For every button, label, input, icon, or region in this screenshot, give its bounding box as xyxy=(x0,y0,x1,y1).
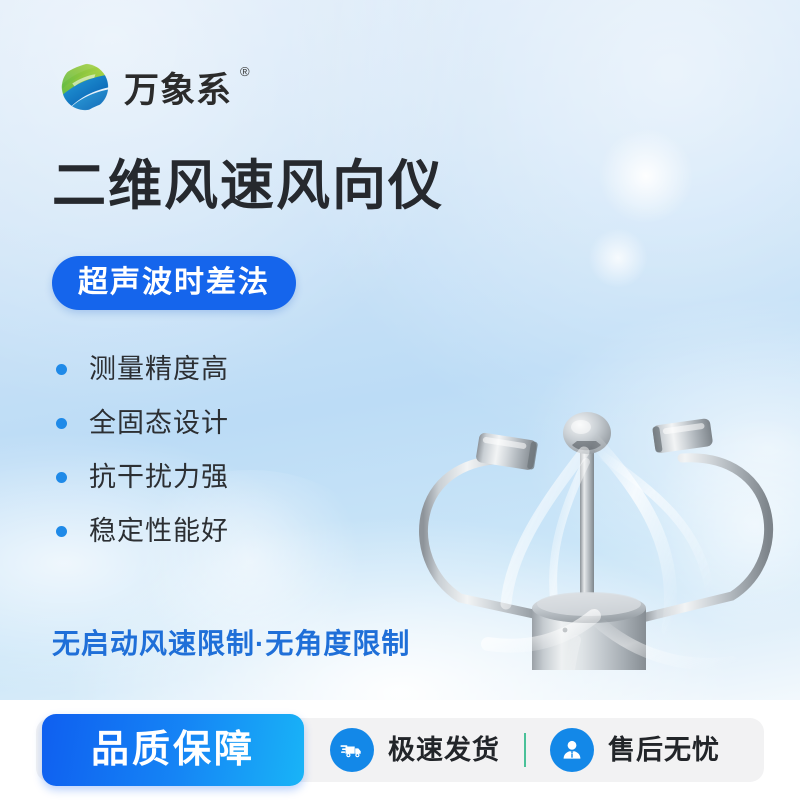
list-item: 测量精度高 xyxy=(56,356,229,383)
bullet-dot-icon xyxy=(56,472,67,483)
method-badge-label: 超声波时差法 xyxy=(78,268,270,298)
feature-label: 稳定性能好 xyxy=(89,518,229,545)
footer-divider xyxy=(524,733,526,767)
footer-item-aftersales: 售后无忧 xyxy=(550,728,720,772)
bullet-dot-icon xyxy=(56,364,67,375)
registered-mark: ® xyxy=(240,64,250,79)
brand-logo: 万象系 ® xyxy=(56,58,250,116)
delivery-truck-icon xyxy=(330,728,374,772)
globe-swirl-icon xyxy=(56,58,114,116)
footer-item-label: 极速发货 xyxy=(388,737,500,764)
list-item: 全固态设计 xyxy=(56,410,229,437)
feature-list: 测量精度高 全固态设计 抗干扰力强 稳定性能好 xyxy=(56,356,229,545)
bullet-dot-icon xyxy=(56,418,67,429)
tagline: 无启动风速限制·无角度限制 xyxy=(52,630,410,658)
product-poster: 万象系 ® 二维风速风向仪 超声波时差法 测量精度高 全固态设计 抗干扰力强 稳… xyxy=(0,0,800,800)
footer-item-shipping: 极速发货 xyxy=(330,728,500,772)
customer-service-icon xyxy=(550,728,594,772)
list-item: 稳定性能好 xyxy=(56,518,229,545)
product-image xyxy=(380,200,800,670)
quality-guarantee-label: 品质保障 xyxy=(91,731,255,769)
list-item: 抗干扰力强 xyxy=(56,464,229,491)
bullet-dot-icon xyxy=(56,526,67,537)
feature-label: 全固态设计 xyxy=(89,410,229,437)
method-badge: 超声波时差法 xyxy=(52,256,296,310)
feature-label: 测量精度高 xyxy=(89,356,229,383)
footer-feature-list: 极速发货 售后无忧 xyxy=(330,718,720,782)
feature-label: 抗干扰力强 xyxy=(89,464,229,491)
brand-name: 万象系 xyxy=(124,73,232,108)
footer-item-label: 售后无忧 xyxy=(608,737,720,764)
quality-guarantee-badge: 品质保障 xyxy=(42,714,304,786)
